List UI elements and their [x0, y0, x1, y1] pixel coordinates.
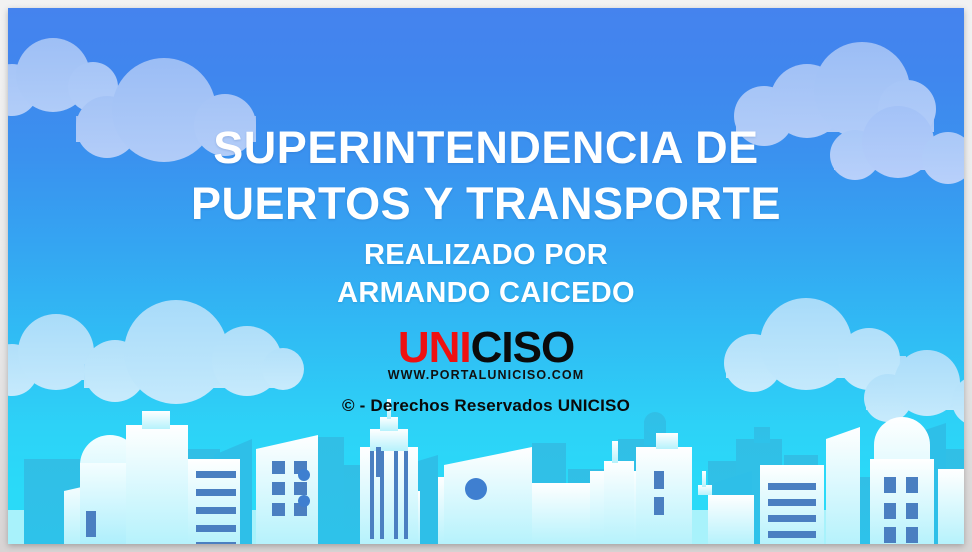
subtitle-line-2: ARMANDO CAICEDO	[337, 277, 635, 309]
presentation-slide: SUPERINTENDENCIA DE PUERTOS Y TRANSPORTE…	[8, 8, 964, 544]
logo-ciso-text: CISO	[471, 323, 575, 372]
logo-wordmark: UNICISO	[388, 326, 584, 370]
slide-frame: SUPERINTENDENCIA DE PUERTOS Y TRANSPORTE…	[0, 0, 972, 552]
slide-content: SUPERINTENDENCIA DE PUERTOS Y TRANSPORTE…	[8, 8, 964, 416]
logo-website-url: WWW.PORTALUNICISO.COM	[388, 368, 584, 382]
subtitle-line-1: REALIZADO POR	[364, 239, 608, 271]
uniciso-logo: UNICISO WWW.PORTALUNICISO.COM	[388, 326, 584, 382]
page-title: SUPERINTENDENCIA DE PUERTOS Y TRANSPORTE	[8, 8, 964, 232]
city-skyline-illustration	[8, 399, 964, 544]
copyright-notice: © - Derechos Reservados UNICISO	[8, 396, 964, 416]
subtitle: REALIZADO POR ARMANDO CAICEDO	[8, 236, 964, 312]
title-line-2: PUERTOS Y TRANSPORTE	[191, 178, 781, 229]
title-line-1: SUPERINTENDENCIA DE	[213, 122, 758, 173]
clock-circle	[465, 478, 487, 500]
logo-uni-text: UNI	[398, 323, 471, 372]
